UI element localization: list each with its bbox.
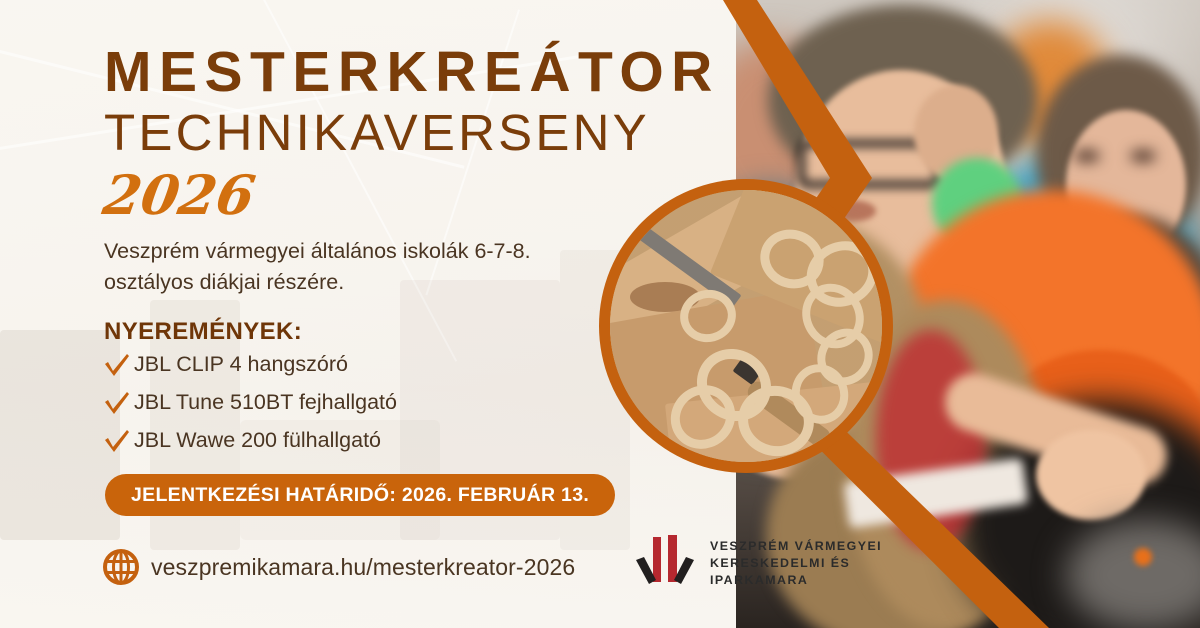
year-script: 2026 [100,168,259,222]
prize-label: JBL CLIP 4 hangszóró [134,350,348,378]
equipment-light [1134,548,1152,566]
chamber-logo-text: VESZPRÉM VÁRMEGYEI KERESKEDELMI ÉS IPARK… [710,540,882,589]
prize-item: JBL Wawe 200 fülhallgató [104,426,564,458]
hand [1036,430,1146,520]
title-line-1: MESTERKREÁTOR [104,44,720,101]
prize-label: JBL Wawe 200 fülhallgató [134,426,381,454]
check-icon [104,353,130,377]
prize-item: JBL Tune 510BT fejhallgató [104,388,564,420]
prize-label: JBL Tune 510BT fejhallgató [134,388,397,416]
prize-list: JBL CLIP 4 hangszóró JBL Tune 510BT fejh… [104,350,564,464]
check-icon [104,391,130,415]
website-link[interactable]: veszpremikamara.hu/mesterkreator-2026 [103,549,575,585]
girl-right-eye [1074,150,1100,162]
globe-icon [103,549,139,585]
chamber-logo-line-1: VESZPRÉM VÁRMEGYEI [710,540,882,554]
deadline-badge: JELENTKEZÉSI HATÁRIDŐ: 2026. FEBRUÁR 13. [105,474,615,516]
chamber-logo-line-3: IPARKAMARA [710,574,882,588]
girl-right-eye [1130,150,1156,162]
poster: MESTERKREÁTOR TECHNIKAVERSENY 2026 Veszp… [0,0,1200,628]
prize-item: JBL CLIP 4 hangszóró [104,350,564,382]
chamber-logo: VESZPRÉM VÁRMEGYEI KERESKEDELMI ÉS IPARK… [634,533,882,595]
subtitle: Veszprém vármegyei általános iskolák 6-7… [104,236,574,297]
website-url-text: veszpremikamara.hu/mesterkreator-2026 [151,554,575,581]
content-block: MESTERKREÁTOR TECHNIKAVERSENY 2026 Veszp… [0,0,736,628]
chamber-logo-line-2: KERESKEDELMI ÉS [710,557,882,571]
title-line-2: TECHNIKAVERSENY [104,107,650,158]
check-icon [104,429,130,453]
chamber-logo-mark-icon [634,533,696,595]
prizes-heading: NYEREMÉNYEK: [104,318,302,346]
